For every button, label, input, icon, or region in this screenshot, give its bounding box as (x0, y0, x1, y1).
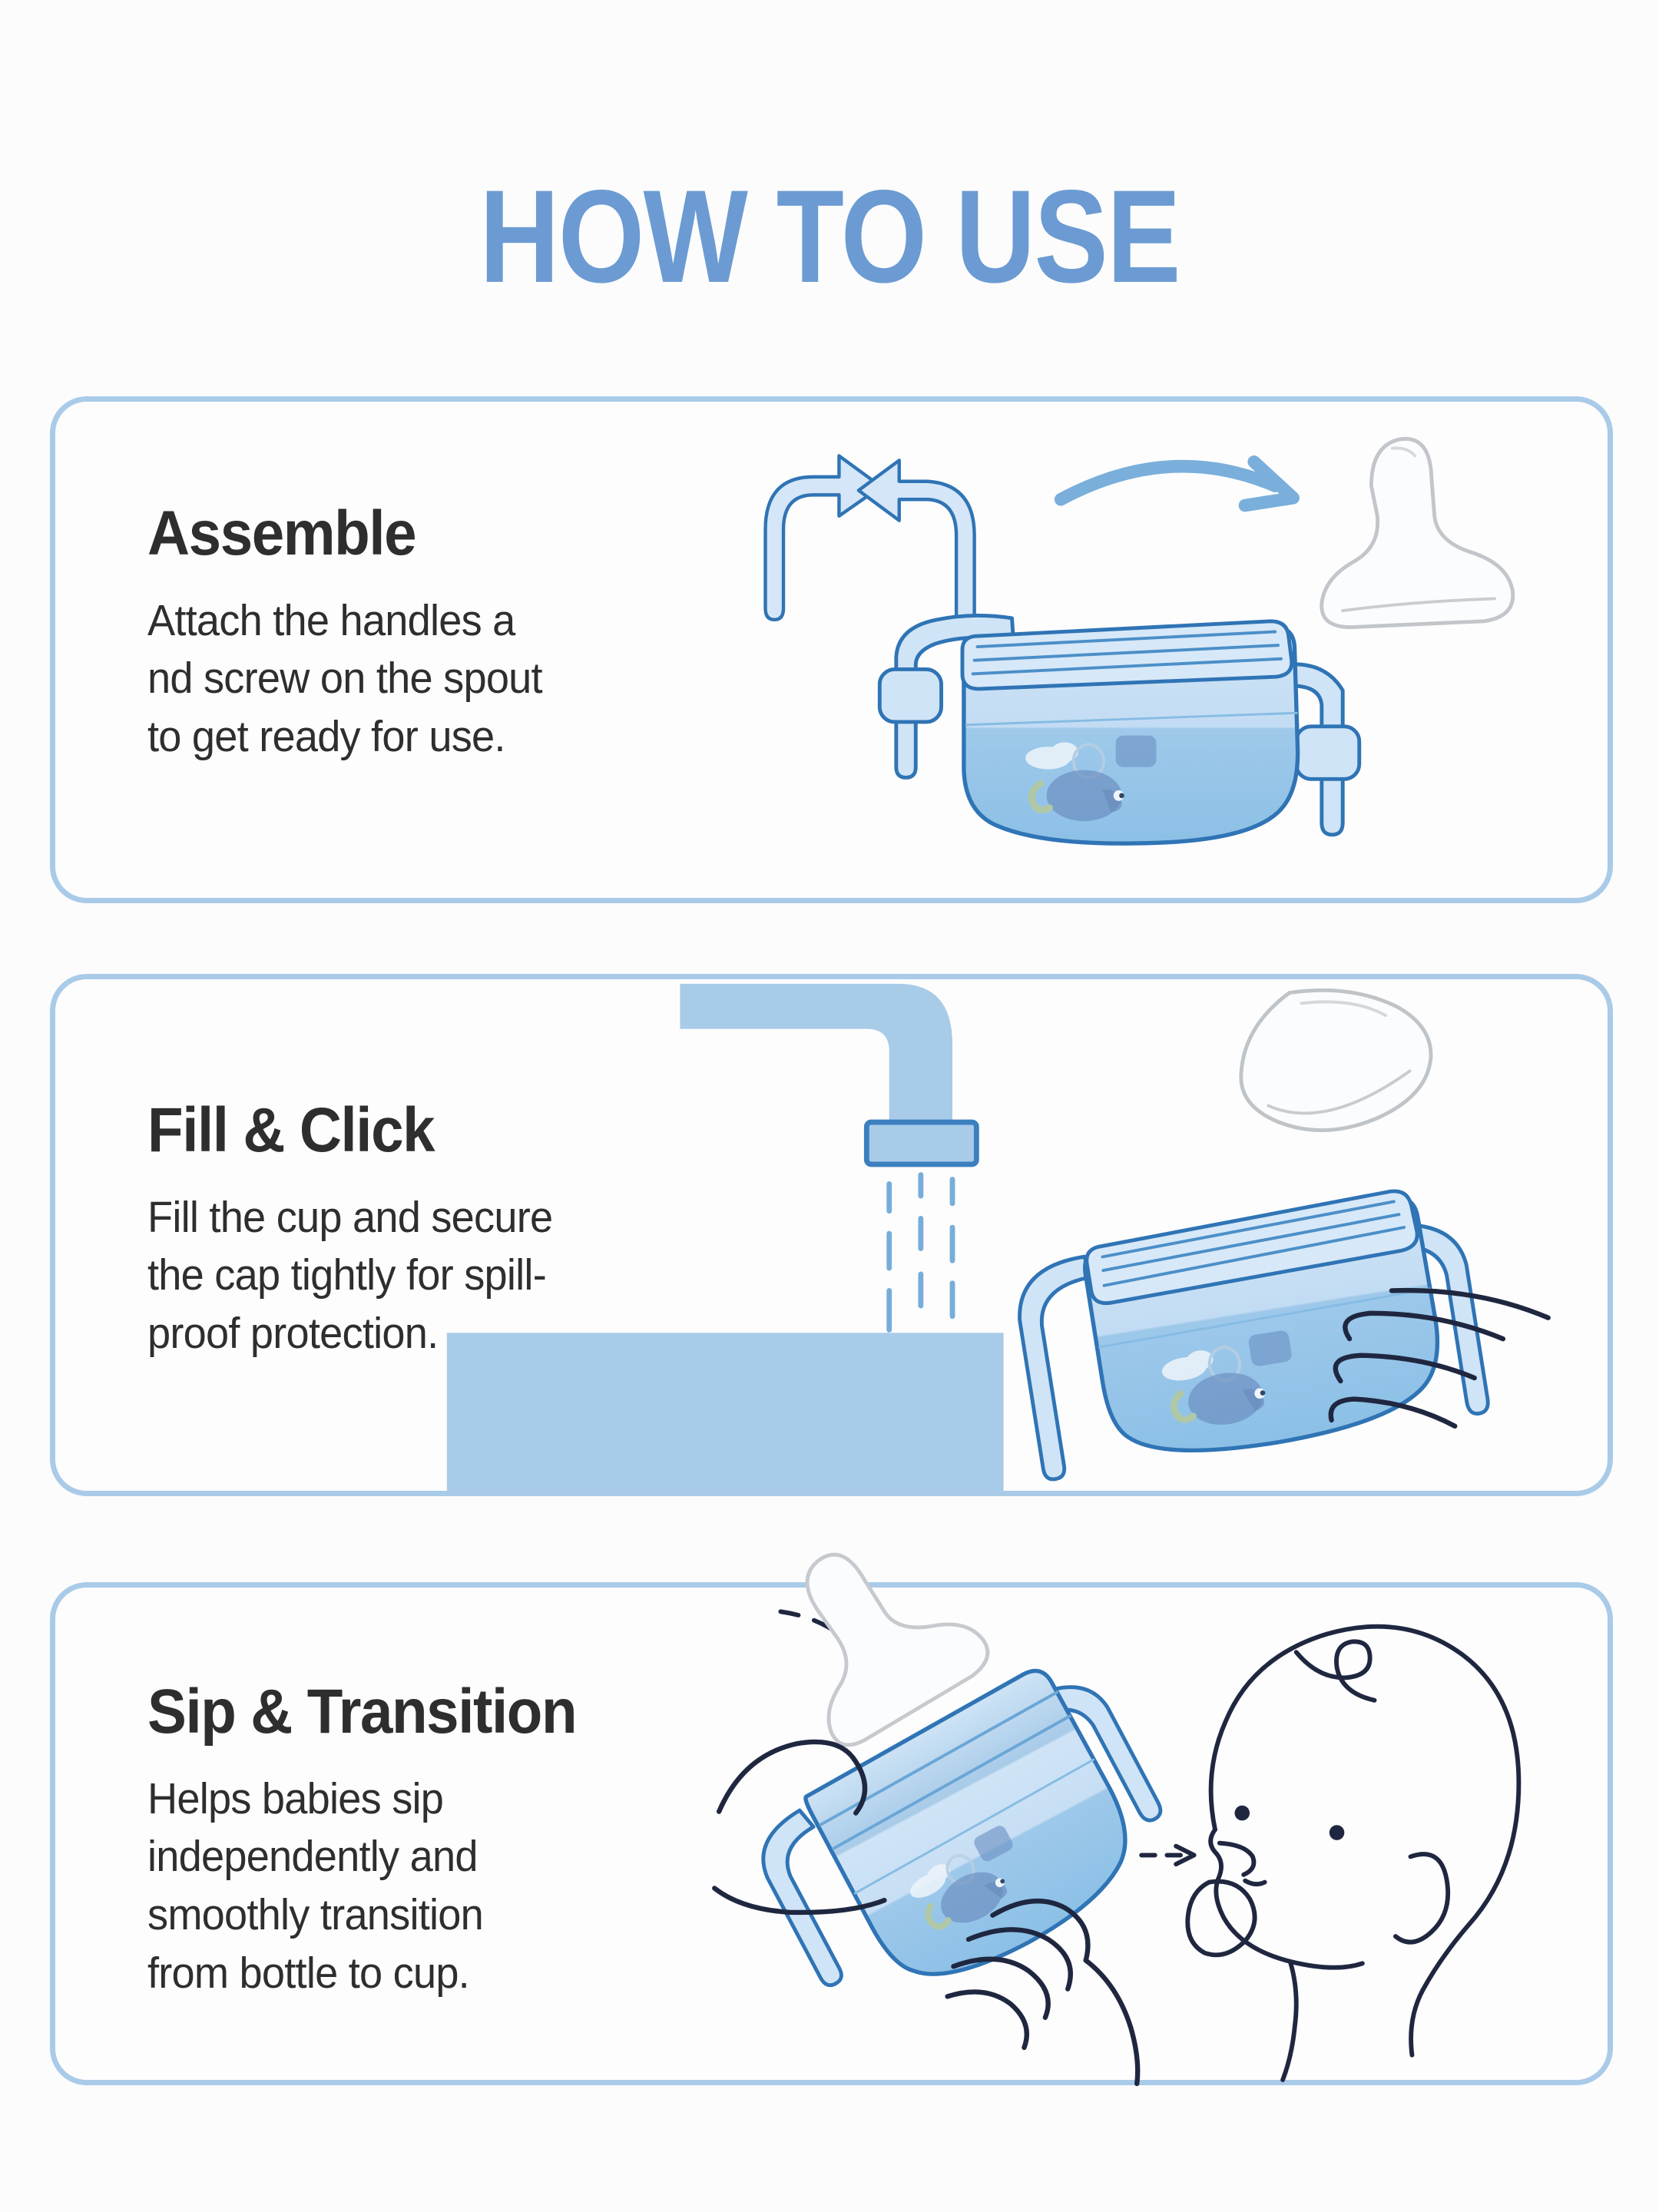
arrow-up-right-icon (766, 455, 882, 619)
card-heading: Fill & Click (147, 1098, 690, 1163)
step-card-fill-and-click: Fill & Click Fill the cup and secure the… (50, 974, 1613, 1496)
body-line: from bottle to cup. (147, 1945, 702, 2003)
hands-holding-cup (714, 1742, 1137, 2084)
spout-part (1322, 439, 1513, 627)
page-title: HOW TO USE (133, 171, 1526, 303)
water-drops (889, 1175, 952, 1330)
step-card-assemble: Assemble Attach the handles a nd screw o… (50, 396, 1613, 903)
dashed-arrow-down-icon (780, 1611, 898, 1687)
body-line: Attach the handles a (147, 592, 702, 651)
sip-and-transition-illustration (755, 1588, 1608, 2080)
fill-and-click-illustration (663, 979, 1608, 1491)
card-heading: Sip & Transition (147, 1680, 690, 1744)
card-body: Attach the handles a nd screw on the spo… (147, 592, 702, 767)
arrow-up-left-icon (859, 460, 975, 627)
dome-cap-part (1241, 990, 1431, 1130)
infographic-page: HOW TO USE Assemble Attach the handles a… (0, 0, 1659, 2212)
card-body: Fill the cup and secure the cap tightly … (147, 1189, 702, 1363)
hand-holding-cup (1331, 1290, 1548, 1426)
card-body: Helps babies sip independently and smoot… (147, 1770, 702, 2003)
dashed-arrow-right-icon (1141, 1846, 1194, 1864)
card-text-block: Assemble Attach the handles a nd screw o… (147, 502, 731, 767)
card-text-block: Fill & Click Fill the cup and secure the… (147, 1098, 731, 1363)
cup-print-motif (1025, 736, 1156, 822)
body-line: proof protection. (147, 1305, 702, 1363)
cup-print-motif (902, 1823, 1037, 1942)
curved-arrow-icon (1061, 462, 1293, 505)
cup-print-motif (1158, 1330, 1300, 1433)
card-text-block: Sip & Transition Helps babies sip indepe… (147, 1680, 731, 2003)
body-line: independently and (147, 1828, 702, 1886)
step-card-sip-and-transition: Sip & Transition Helps babies sip indepe… (50, 1582, 1613, 2085)
body-line: the cap tightly for spill- (147, 1247, 702, 1305)
sippy-cup-tilted (1009, 1181, 1490, 1482)
body-line: nd screw on the spout (147, 650, 702, 708)
body-line: smoothly transition (147, 1886, 702, 1945)
body-line: Helps babies sip (147, 1770, 702, 1829)
baby-head-line-art (1187, 1627, 1518, 2080)
card-heading: Assemble (147, 502, 690, 566)
body-line: Fill the cup and secure (147, 1189, 702, 1247)
sippy-cup-with-handles (879, 615, 1359, 843)
assemble-illustration (740, 402, 1608, 898)
body-line: to get ready for use. (147, 708, 702, 767)
